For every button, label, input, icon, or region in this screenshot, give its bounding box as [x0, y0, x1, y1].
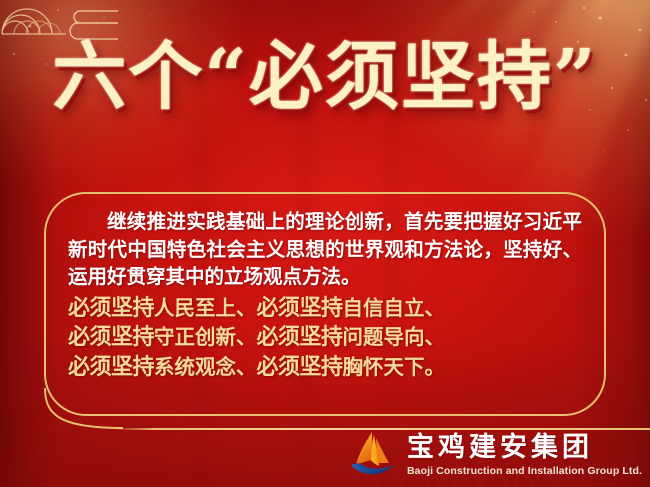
slogan-rest: 胸怀天下。 [343, 355, 446, 379]
company-name-en: Baoji Construction and Installation Grou… [407, 465, 642, 478]
poster-canvas: 六个“必须坚持” 继续推进实践基础上的理论创新，首先要把握好习近平新时代中国特色… [0, 0, 650, 487]
slogan-line: 必须坚持守正创新、必须坚持问题导向、 [68, 323, 582, 352]
poster-title: 六个“必须坚持” [52, 40, 597, 114]
company-logo-block: 宝鸡建安集团 Baoji Construction and Installati… [345, 429, 642, 481]
slogan-rest: 自信自立、 [343, 296, 446, 320]
company-logo-text: 宝鸡建安集团 Baoji Construction and Installati… [407, 433, 642, 477]
slogan-emphasis: 必须坚持 [257, 325, 343, 350]
poster-title-wrap: 六个“必须坚持” [0, 40, 650, 114]
slogan-rest: 问题导向、 [343, 325, 446, 349]
slogan-line: 必须坚持人民至上、必须坚持自信自立、 [68, 294, 582, 323]
slogan-rest: 人民至上、 [154, 296, 257, 320]
company-name-cn: 宝鸡建安集团 [407, 433, 642, 463]
slogan-rest: 系统观念、 [154, 355, 257, 379]
company-logomark-icon [345, 429, 399, 481]
content-card: 继续推进实践基础上的理论创新，首先要把握好习近平新时代中国特色社会主义思想的世界… [44, 192, 606, 416]
slogan-list: 必须坚持人民至上、必须坚持自信自立、 必须坚持守正创新、必须坚持问题导向、 必须… [68, 294, 582, 382]
slogan-emphasis: 必须坚持 [257, 296, 343, 321]
slogan-rest: 守正创新、 [154, 325, 257, 349]
slogan-emphasis: 必须坚持 [257, 355, 343, 380]
gold-divider-curve-icon [44, 388, 124, 430]
slogan-emphasis: 必须坚持 [68, 325, 154, 350]
slogan-line: 必须坚持系统观念、必须坚持胸怀天下。 [68, 353, 582, 382]
slogan-emphasis: 必须坚持 [68, 296, 154, 321]
slogan-emphasis: 必须坚持 [68, 355, 154, 380]
content-card-inner: 继续推进实践基础上的理论创新，首先要把握好习近平新时代中国特色社会主义思想的世界… [46, 194, 604, 414]
intro-paragraph: 继续推进实践基础上的理论创新，首先要把握好习近平新时代中国特色社会主义思想的世界… [68, 208, 582, 291]
